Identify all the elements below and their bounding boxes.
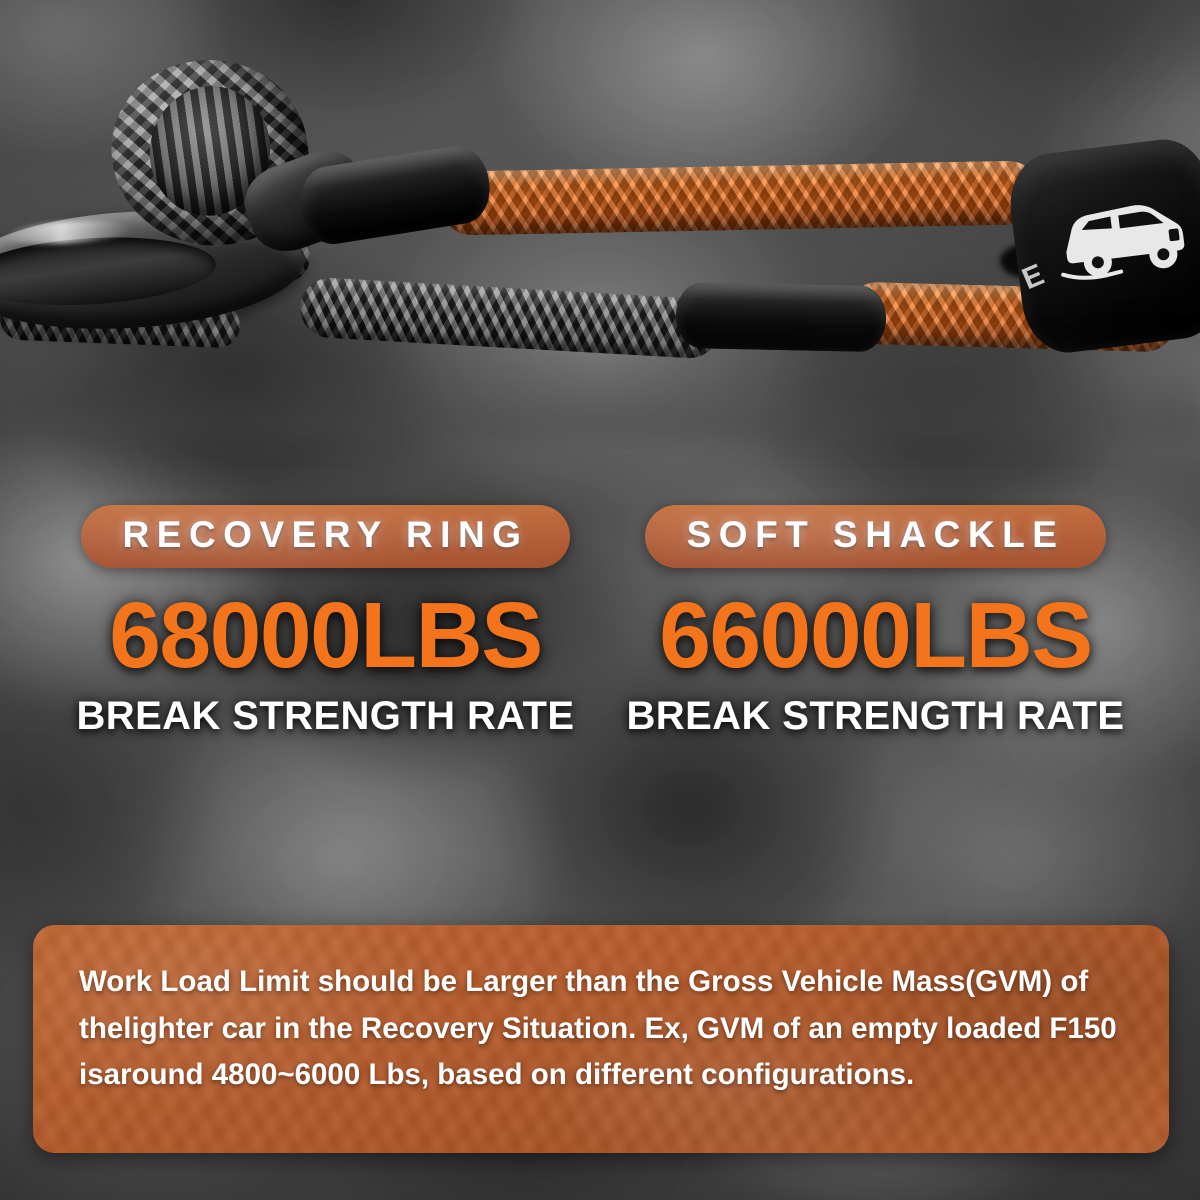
spec-caption-recovery-ring: BREAK STRENGTH RATE — [58, 696, 593, 736]
spec-value-soft-shackle: 66000LBS — [608, 589, 1143, 682]
spec-caption-soft-shackle: BREAK STRENGTH RATE — [608, 696, 1143, 736]
truck-graphic-icon — [1051, 175, 1198, 287]
black-strap-sleeve: E — [1005, 135, 1200, 358]
spec-pill-soft-shackle: SOFT SHACKLE — [645, 505, 1107, 568]
work-load-limit-note: Work Load Limit should be Larger than th… — [33, 925, 1169, 1153]
spec-recovery-ring: RECOVERY RING 68000LBS BREAK STRENGTH RA… — [58, 505, 593, 736]
photo-fade — [0, 330, 1200, 440]
note-text: Work Load Limit should be Larger than th… — [79, 959, 1127, 1099]
spec-pill-label: SOFT SHACKLE — [687, 516, 1065, 555]
spec-panels: RECOVERY RING 68000LBS BREAK STRENGTH RA… — [0, 505, 1200, 775]
orange-rope-upper-icon — [439, 160, 1040, 236]
spec-value-recovery-ring: 68000LBS — [58, 589, 593, 682]
product-infographic: E RECOVERY RING 68000LBS BREAK STRENGTH … — [0, 0, 1200, 1200]
strap-text: E — [1017, 257, 1051, 297]
spec-pill-label: RECOVERY RING — [123, 516, 529, 555]
product-photo: E — [0, 0, 1200, 400]
spec-pill-recovery-ring: RECOVERY RING — [81, 505, 571, 568]
spec-soft-shackle: SOFT SHACKLE 66000LBS BREAK STRENGTH RAT… — [608, 505, 1143, 736]
